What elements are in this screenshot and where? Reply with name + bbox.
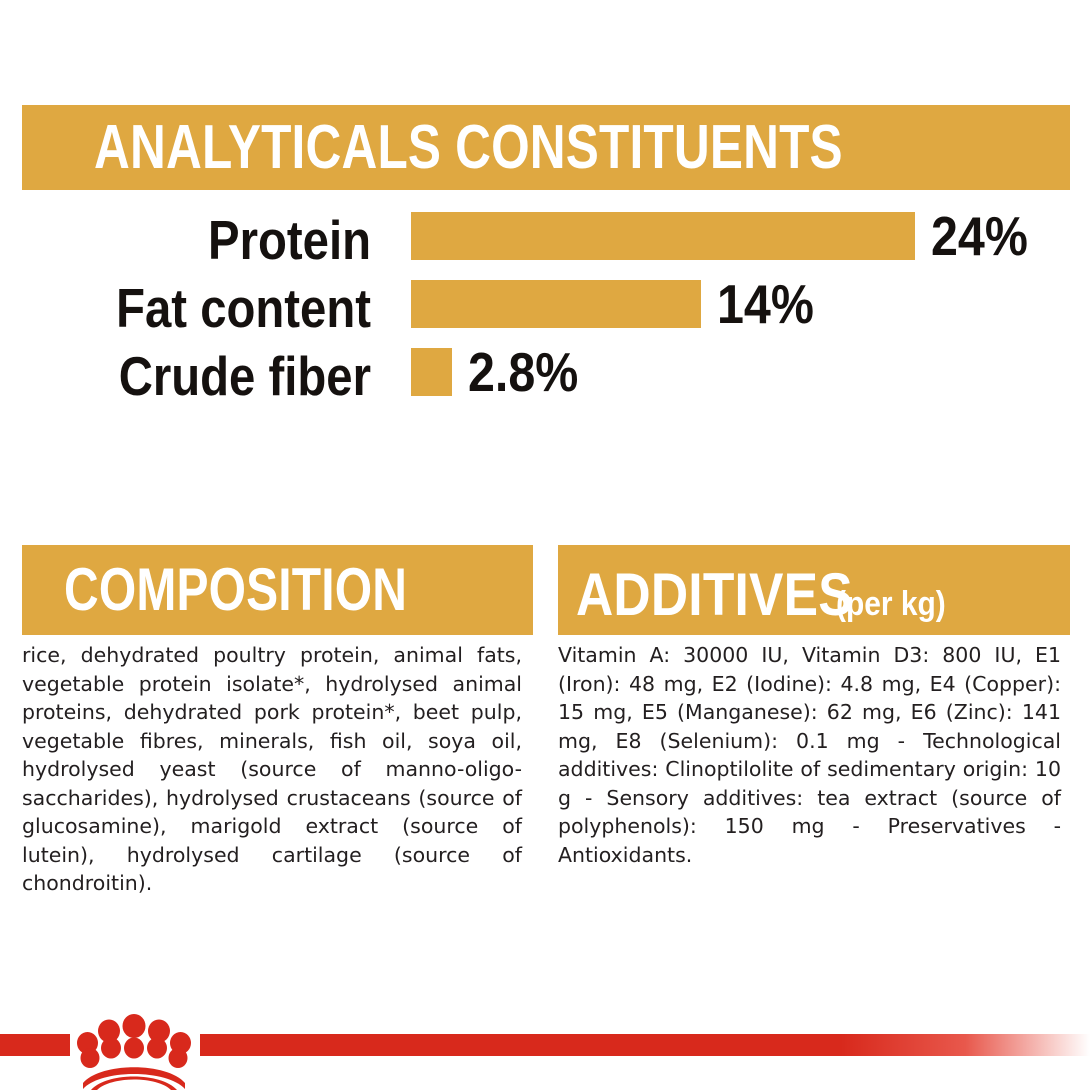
bar-track-fat-content: 14% <box>411 280 827 328</box>
bar-value-fat-content: 14% <box>717 279 814 329</box>
bar-row: Protein 24% <box>0 212 1090 276</box>
bar-fill-fat-content <box>411 280 701 328</box>
bar-value-protein: 24% <box>931 211 1028 261</box>
composition-header-band: COMPOSITION <box>22 545 533 635</box>
footer-stripe-right <box>200 1034 1090 1056</box>
composition-body-text: rice, dehydrated poultry protein, animal… <box>22 641 522 898</box>
bar-row: Fat content 14% <box>0 280 1090 344</box>
bar-track-protein: 24% <box>411 212 1041 260</box>
footer <box>0 1012 1090 1090</box>
composition-header-title: COMPOSITION <box>64 560 407 620</box>
additives-header-title: ADDITIVES <box>576 565 853 625</box>
additives-header-subtitle: (per kg) <box>836 587 946 621</box>
bar-track-crude-fiber: 2.8% <box>411 348 593 396</box>
bar-label-crude-fiber: Crude fiber <box>52 348 371 404</box>
bar-row: Crude fiber 2.8% <box>0 348 1090 412</box>
analyticals-header-band: ANALYTICALS CONSTITUENTS <box>22 105 1070 190</box>
bar-label-fat-content: Fat content <box>52 280 371 336</box>
analyticals-header-title: ANALYTICALS CONSTITUENTS <box>94 117 843 179</box>
bar-fill-crude-fiber <box>411 348 452 396</box>
additives-header-band: ADDITIVES (per kg) <box>558 545 1070 635</box>
bar-fill-protein <box>411 212 915 260</box>
bar-label-protein: Protein <box>52 212 371 268</box>
analyticals-bar-chart: Protein 24% Fat content 14% Crude fiber … <box>0 212 1090 412</box>
bar-value-crude-fiber: 2.8% <box>468 347 578 397</box>
product-info-panel: ANALYTICALS CONSTITUENTS Protein 24% Fat… <box>0 0 1090 1090</box>
royal-canin-crown-icon <box>73 1012 195 1090</box>
footer-stripe-left <box>0 1034 70 1056</box>
additives-body-text: Vitamin A: 30000 IU, Vitamin D3: 800 IU,… <box>558 641 1061 869</box>
